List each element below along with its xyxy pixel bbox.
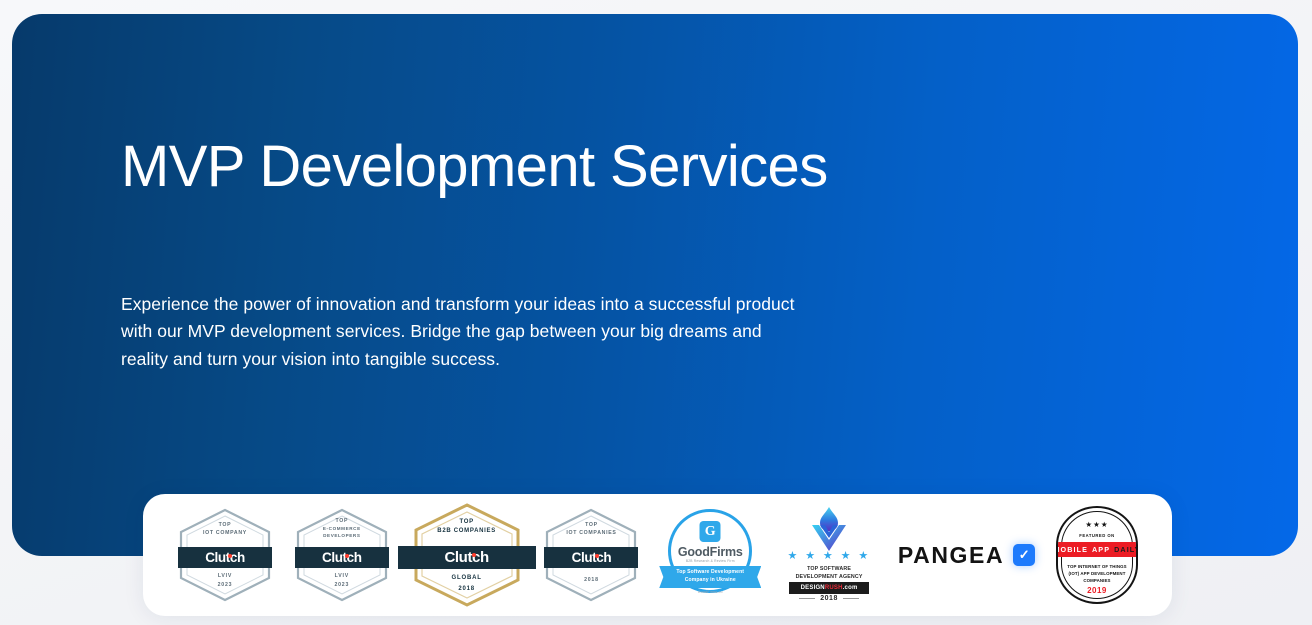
pangea-logo: PANGEA ✓	[898, 542, 1035, 569]
goodfirms-tagline: B2B Research & Review Firm	[660, 559, 760, 563]
clutch-red-dot-icon	[595, 554, 599, 558]
verified-check-icon: ✓	[1013, 544, 1035, 566]
badge-brand-name: Clutch	[572, 550, 612, 565]
mad-brand-3: DAILY	[1114, 545, 1138, 554]
goodfirms-ribbon: Top Software Development Company in Ukra…	[659, 566, 761, 588]
page-root: MVP Development Services Experience the …	[0, 0, 1312, 625]
designrush-brand-ribbon: DESIGNRUSH.com	[789, 582, 869, 594]
designrush-brand-prefix: DESIGN	[801, 585, 825, 591]
badge-clutch-iot-companies-2018[interactable]: TOP IOT COMPANIES Clutch 2018	[543, 508, 639, 602]
badge-brand-band: Clutch	[398, 546, 536, 569]
designrush-brand-suffix: .com	[843, 585, 858, 591]
badge-clutch-iot-company-lviv[interactable]: TOP IOT COMPANY Clutch LVIV 2023	[177, 508, 273, 602]
designrush-title: TOP SOFTWARE DEVELOPMENT AGENCY	[781, 565, 877, 581]
badge-mobile-app-daily-top-iot[interactable]: ★★★ FEATURED ON MOBILE APP DAILY TOP INT…	[1056, 506, 1138, 604]
mad-brand-2: APP	[1092, 545, 1110, 554]
badge-brand-band: Clutch	[178, 547, 272, 568]
mad-desc-line-3: COMPANIES	[1062, 577, 1132, 584]
designrush-stars-icon: ★ ★ ★ ★ ★	[781, 551, 877, 562]
awards-badge-strip: TOP IOT COMPANY Clutch LVIV 2023	[143, 494, 1172, 616]
mad-brand-bar: MOBILE APP DAILY	[1056, 542, 1138, 557]
mad-desc-line-2: (IOT) APP DEVELOPMENT	[1062, 570, 1132, 577]
mad-year: 2019	[1058, 586, 1136, 595]
designrush-title-line-1: TOP SOFTWARE	[781, 565, 877, 573]
mad-brand-1: MOBILE	[1056, 545, 1088, 554]
hero-banner: MVP Development Services Experience the …	[12, 14, 1298, 556]
mad-stars-icon: ★★★	[1058, 521, 1136, 529]
clutch-hexagon-icon: TOP E-COMMERCE DEVELOPERS Clutch LVIV 20…	[294, 508, 390, 602]
badge-pangea-verified[interactable]: PANGEA ✓	[898, 542, 1035, 569]
mad-desc-line-1: TOP INTERNET OF THINGS	[1062, 563, 1132, 570]
designrush-brand-accent: RUSH	[825, 585, 843, 591]
mobileappdaily-badge-icon: ★★★ FEATURED ON MOBILE APP DAILY TOP INT…	[1056, 506, 1138, 604]
goodfirms-ribbon-line-2: Company in Ukraine	[676, 577, 744, 585]
badge-brand-name: Clutch	[322, 550, 362, 565]
badge-brand-name: Clutch	[205, 550, 245, 565]
badge-clutch-b2b-companies-global[interactable]: TOP B2B COMPANIES Clutch GLOBAL 2018	[411, 503, 523, 607]
designrush-title-line-2: DEVELOPMENT AGENCY	[781, 573, 877, 581]
badge-brand-band: Clutch	[544, 547, 638, 568]
designrush-flame-icon	[805, 506, 853, 552]
badge-brand-band: Clutch	[295, 547, 389, 568]
goodfirms-badge-icon: G GoodFirms B2B Research & Review Firm T…	[660, 508, 760, 602]
page-title: MVP Development Services	[121, 136, 828, 197]
clutch-hexagon-icon: TOP IOT COMPANIES Clutch 2018	[543, 508, 639, 602]
mad-description: TOP INTERNET OF THINGS (IOT) APP DEVELOP…	[1062, 563, 1132, 584]
clutch-hexagon-icon: TOP IOT COMPANY Clutch LVIV 2023	[177, 508, 273, 602]
badge-clutch-ecommerce-developers-lviv[interactable]: TOP E-COMMERCE DEVELOPERS Clutch LVIV 20…	[294, 508, 390, 602]
badge-designrush-top-software-agency[interactable]: ★ ★ ★ ★ ★ TOP SOFTWARE DEVELOPMENT AGENC…	[781, 506, 877, 604]
designrush-year: 2018	[781, 595, 877, 602]
hero-subtitle: Experience the power of innovation and t…	[121, 291, 801, 373]
goodfirms-footer: GoodFirms.co	[660, 590, 760, 594]
goodfirms-name: GoodFirms	[660, 545, 760, 559]
clutch-gold-hexagon-icon: TOP B2B COMPANIES Clutch GLOBAL 2018	[411, 503, 523, 607]
designrush-badge-icon: ★ ★ ★ ★ ★ TOP SOFTWARE DEVELOPMENT AGENC…	[781, 506, 877, 604]
badge-goodfirms-top-software-development[interactable]: G GoodFirms B2B Research & Review Firm T…	[660, 508, 760, 602]
goodfirms-logo-icon: G	[700, 521, 721, 542]
pangea-wordmark: PANGEA	[898, 542, 1004, 569]
badge-brand-name: Clutch	[444, 549, 488, 566]
mad-featured-label: FEATURED ON	[1058, 533, 1136, 538]
goodfirms-ribbon-line-1: Top Software Development	[676, 569, 744, 577]
